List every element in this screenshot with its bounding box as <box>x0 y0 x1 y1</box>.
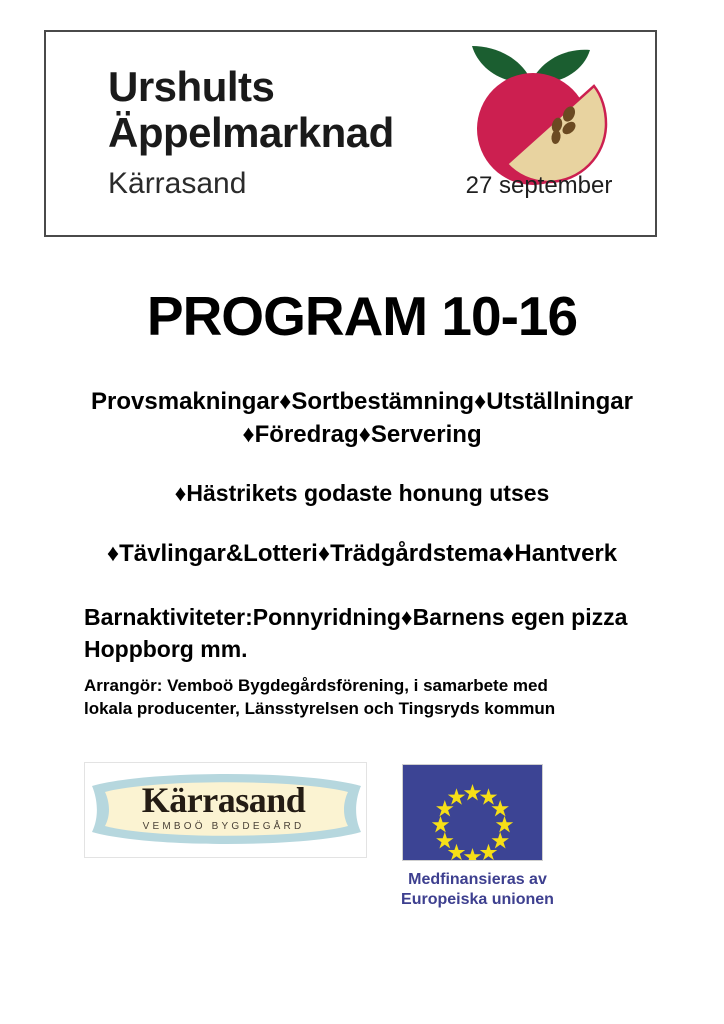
program-title: PROGRAM 10-16 <box>0 284 724 348</box>
apple-with-slice-icon <box>444 40 619 190</box>
eu-caption-line1: Medfinansieras av <box>390 870 565 890</box>
header-location: Kärrasand <box>108 167 458 201</box>
eu-flag-icon <box>402 764 543 861</box>
organizer-text: Arrangör: Vemboö Bygdegårdsförening, i s… <box>84 674 664 720</box>
header-brand-text: Urshults Äppelmarknad Kärrasand <box>108 65 458 201</box>
header-logo-box: Urshults Äppelmarknad Kärrasand 27 septe… <box>44 30 657 237</box>
organizer-line2: lokala producenter, Länsstyrelsen och Ti… <box>84 697 664 720</box>
brand-name-line2: Äppelmarknad <box>108 111 458 155</box>
program-line-contests: ♦Tävlingar&Lotteri♦Trädgårdstema♦Hantver… <box>0 538 724 570</box>
eu-funding-emblem: Medfinansieras av Europeiska unionen <box>390 764 565 910</box>
program-line-tastings: Provsmakningar♦Sortbestämning♦Utställnin… <box>0 386 724 418</box>
program-line-bouncy-castle: Hoppborg mm. <box>84 633 684 665</box>
program-line-lectures: ♦Föredrag♦Servering <box>0 419 724 451</box>
eu-caption: Medfinansieras av Europeiska unionen <box>390 870 565 910</box>
header-date: 27 september <box>444 172 634 200</box>
organizer-line1: Arrangör: Vemboö Bygdegårdsförening, i s… <box>84 674 664 697</box>
program-line-children-activities: Barnaktiviteter:Ponnyridning♦Barnens ege… <box>84 601 684 633</box>
program-line-honey: ♦Hästrikets godaste honung utses <box>0 478 724 509</box>
karrasand-wordmark: Kärrasand <box>85 779 362 821</box>
karrasand-subtitle: VEMBOÖ BYGDEGÅRD <box>85 821 362 832</box>
eu-caption-line2: Europeiska unionen <box>390 890 565 910</box>
karrasand-logo: Kärrasand VEMBOÖ BYGDEGÅRD <box>84 762 367 858</box>
brand-name-line1: Urshults <box>108 65 458 109</box>
